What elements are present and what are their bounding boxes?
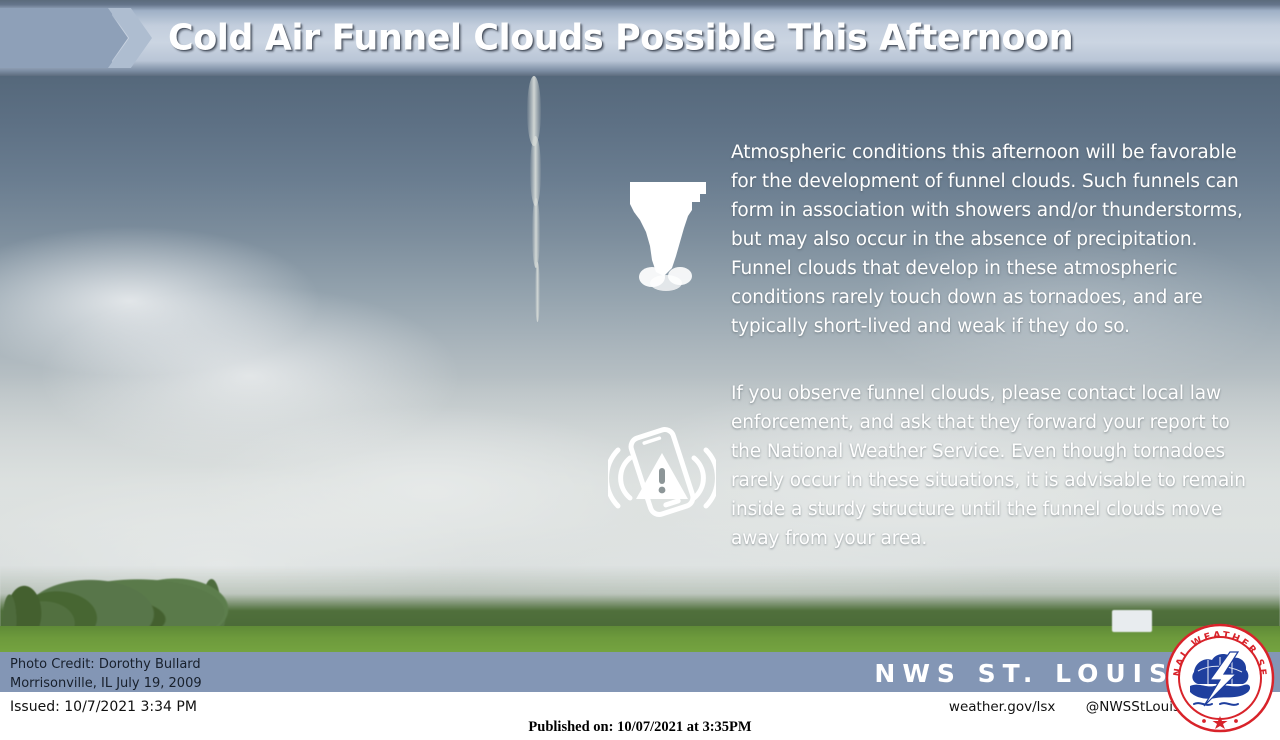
body-text-column: Atmospheric conditions this afternoon wi… xyxy=(731,138,1261,553)
footer-links: weather.gov/lsx @NWSStLouis xyxy=(949,699,1180,715)
tornado-segment xyxy=(530,136,541,206)
green-field xyxy=(0,626,1280,652)
photo-credit-line-1: Photo Credit: Dorothy Bullard xyxy=(10,655,430,674)
chevron-right-icon-secondary xyxy=(108,8,152,68)
page-title: Cold Air Funnel Clouds Possible This Aft… xyxy=(168,18,1073,59)
paragraph-2: If you observe funnel clouds, please con… xyxy=(731,379,1261,553)
tornado-segment xyxy=(532,198,540,268)
treeline xyxy=(0,566,1280,628)
nws-seal-icon: NATIONAL WEATHER SERVICE xyxy=(1164,622,1276,734)
photo-credit: Photo Credit: Dorothy Bullard Morrisonvi… xyxy=(10,655,430,693)
funnel-cloud-icon xyxy=(614,176,710,292)
tornado-funnel-photo xyxy=(519,76,549,316)
cloud-shape xyxy=(0,226,320,376)
paragraph-1: Atmospheric conditions this afternoon wi… xyxy=(731,138,1261,341)
website-link[interactable]: weather.gov/lsx xyxy=(949,699,1056,715)
office-name: NWS ST. LOUIS xyxy=(874,659,1174,688)
header-banner: Cold Air Funnel Clouds Possible This Aft… xyxy=(0,0,1280,76)
issued-timestamp: Issued: 10/7/2021 3:34 PM xyxy=(10,699,197,715)
published-timestamp: Published on: 10/07/2021 at 3:35PM xyxy=(0,719,1280,736)
photo-credit-line-2: Morrisonville, IL July 19, 2009 xyxy=(10,674,430,693)
tornado-segment xyxy=(535,262,540,322)
weather-graphic: Cold Air Funnel Clouds Possible This Aft… xyxy=(0,0,1280,740)
farm-building xyxy=(1112,610,1152,632)
phone-alert-icon xyxy=(608,420,716,524)
